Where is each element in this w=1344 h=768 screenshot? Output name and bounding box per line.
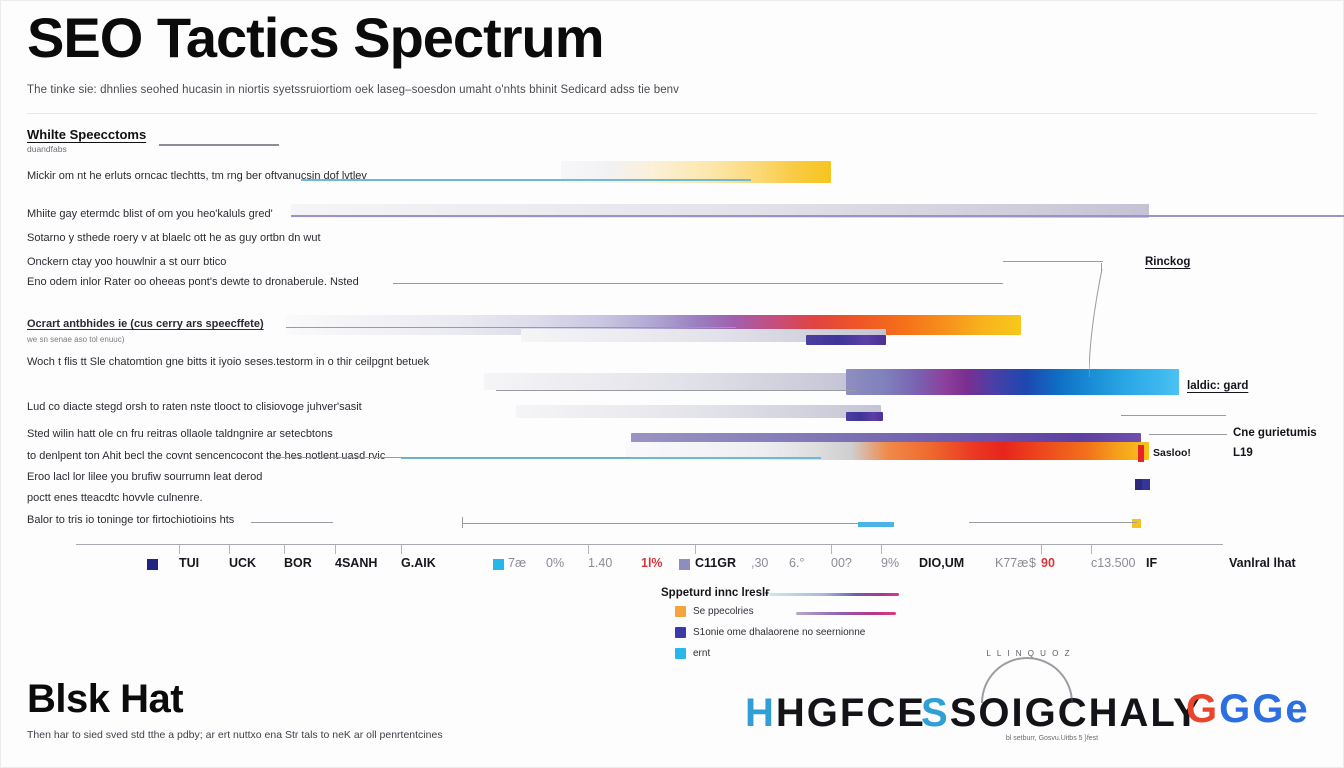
row-label-10: to denlpent ton Ahit becl the covnt senc… <box>27 450 385 462</box>
logo-hgfce-text: HGFCE <box>776 691 926 736</box>
leader-line-row-10b <box>271 457 631 458</box>
legend-label-1: S1onie ome dhalaorene no seernionne <box>693 627 865 638</box>
row-label-3: Onckern ctay yoo houwlnir a st ourr btic… <box>27 256 226 268</box>
leader-tick-bottom-a <box>462 517 463 528</box>
axis-label-7: 1.40 <box>588 556 612 570</box>
callout-0: Rinckog <box>1145 256 1190 268</box>
header: SEO Tactics Spectrum The tinke sie: dhnl… <box>27 9 1317 96</box>
logo-soigchaly-subtext: bl setburr, Gosvu.Uitbs 5 }fest <box>977 735 1127 742</box>
axis-label-20: Vanlral lhat <box>1229 556 1296 570</box>
row-label-1: Mhiite gay etermdc blist of om you heo'k… <box>27 208 273 220</box>
logo-hgfce: H HGFCE <box>745 691 926 736</box>
legend-title-line <box>769 593 899 596</box>
logo-google-text: GGe <box>1219 687 1309 732</box>
axis-label-11: 6.° <box>789 556 804 570</box>
marker-yellow <box>1132 519 1141 528</box>
axis-tick-18 <box>1091 545 1092 554</box>
row-label-2: Sotarno y sthede roery v at blaelc ott h… <box>27 232 321 244</box>
legend-label-2: ernt <box>693 648 710 659</box>
row-label-12: poctt enes tteacdtc hovvle culnenre. <box>27 492 203 504</box>
legend-item-2[interactable]: ernt <box>675 648 710 659</box>
axis-swatch-1 <box>493 559 504 570</box>
logo-soigchaly: L L I N Q U O Z S SOIGCHALY bl setburr, … <box>921 691 1202 736</box>
row-label-13: Balor to tris io toninge tor firtochioti… <box>27 514 234 526</box>
bar-row-8-grey <box>516 405 881 418</box>
axis-swatch-0 <box>147 559 158 570</box>
axis-label-18: c13.500 <box>1091 556 1135 570</box>
callout-2: Cne gurietumis <box>1233 427 1317 439</box>
axis-tick-0 <box>179 545 180 554</box>
axis-label-3: 4SANH <box>335 556 377 570</box>
bar-row-5-violet <box>806 335 886 345</box>
axis-label-2: BOR <box>284 556 312 570</box>
legend-item-1[interactable]: S1onie ome dhalaorene no seernionne <box>675 627 865 638</box>
row-label-8: Lud co diacte stegd orsh to raten nste t… <box>27 401 362 413</box>
leader-line-row-8 <box>1121 415 1226 416</box>
bar-row-8-violet <box>846 412 883 421</box>
legend-swatch-2 <box>675 648 686 659</box>
logo-soigchaly-glyph-s: S <box>921 691 950 736</box>
row-label-4: Eno odem inlor Rater oo oheeas pont's de… <box>27 276 359 288</box>
callout-leader-2 <box>1149 434 1227 435</box>
axis-tick-2 <box>284 545 285 554</box>
axis-tick-9 <box>695 545 696 554</box>
axis-label-6: 0% <box>546 556 564 570</box>
legend-item-0[interactable]: Se ppecolries <box>675 606 754 617</box>
legend-swatch-0 <box>675 606 686 617</box>
bar-row-7-grey <box>484 373 854 390</box>
leader-line-row-13 <box>251 522 333 523</box>
axis-tick-4 <box>401 545 402 554</box>
axis-label-12: 00? <box>831 556 852 570</box>
axis-label-1: UCK <box>229 556 256 570</box>
axis-label-9: C11GR <box>695 556 736 570</box>
axis-label-14: DIO,UM <box>919 556 964 570</box>
footer-subtitle: Then har to sied sved std tthe a pdby; a… <box>27 729 443 741</box>
axis-tick-3 <box>335 545 336 554</box>
row-label-11: Eroo lacl lor lilee you brufiw sourrumn … <box>27 471 262 483</box>
callout-curve <box>1089 269 1119 379</box>
logo-arc-shape <box>981 657 1073 703</box>
axis-label-15: K77æ <box>995 556 1028 570</box>
legend-label-0: Se ppecolries <box>693 606 754 617</box>
axis-tick-17 <box>1041 545 1042 554</box>
axis-swatch-2 <box>679 559 690 570</box>
axis-label-13: 9% <box>881 556 899 570</box>
logo-google-glyph-g1: G <box>1186 687 1219 732</box>
callout-1: laldic: gard <box>1187 380 1248 392</box>
leader-line-row-0 <box>301 179 751 181</box>
row-label-7: Woch t flis tt Sle chatomtion gne bitts … <box>27 356 429 368</box>
section-subheading: duandfabs <box>27 144 67 154</box>
leader-line-row-1 <box>291 215 1344 217</box>
infographic-canvas: SEO Tactics Spectrum The tinke sie: dhnl… <box>0 0 1344 768</box>
axis-label-19: IF <box>1146 556 1157 570</box>
marker-red <box>1138 445 1144 462</box>
callout-leader-0 <box>1003 261 1103 262</box>
axis-line <box>76 544 1223 545</box>
bar-row-7-blue <box>846 369 1179 395</box>
axis-tick-12 <box>831 545 832 554</box>
marker-navy-b <box>1142 479 1150 490</box>
section-heading: Whilte Speecctoms <box>27 127 146 142</box>
logo-google: G GGe <box>1186 687 1310 732</box>
row-label-9: Sted wilin hatt ole cn fru reitras ollao… <box>27 428 333 440</box>
row-label-6: we sn senae aso tol enuuc) <box>27 335 124 344</box>
axis-label-10: ,30 <box>751 556 768 570</box>
footer-title: Blsk Hat <box>27 677 183 722</box>
axis-label-0: TUI <box>179 556 199 570</box>
header-divider <box>27 113 1317 114</box>
axis-label-5: 7æ <box>508 556 526 570</box>
axis-label-17: 90 <box>1041 556 1055 570</box>
callout-3: L19 <box>1233 447 1253 459</box>
row-label-5: Ocrart antbhides ie (cus cerry ars speec… <box>27 318 264 330</box>
page-subtitle: The tinke sie: dhnlies seohed hucasin in… <box>27 84 1317 96</box>
axis-tick-1 <box>229 545 230 554</box>
section-rule <box>159 144 279 146</box>
legend-item-0-line <box>796 612 896 615</box>
axis-label-4: G.AIK <box>401 556 436 570</box>
callout-4: Sasloo! <box>1153 447 1191 459</box>
leader-line-row-7 <box>496 390 856 391</box>
logo-hgfce-glyph-h: H <box>745 691 776 736</box>
leader-line-row-5 <box>286 327 736 328</box>
axis-label-8: 1l% <box>641 556 663 570</box>
axis-tick-7 <box>588 545 589 554</box>
axis-tick-13 <box>881 545 882 554</box>
leader-line-bottom-a <box>463 523 893 524</box>
legend-swatch-1 <box>675 627 686 638</box>
leader-line-row-4 <box>393 283 1003 284</box>
legend-title: Sppeturd innc lreslғ <box>661 587 770 599</box>
page-title: SEO Tactics Spectrum <box>27 9 1317 68</box>
axis-label-16: $ <box>1029 556 1036 570</box>
leader-line-bottom-b <box>969 522 1137 523</box>
logo-arc-text: L L I N Q U O Z <box>979 649 1079 658</box>
